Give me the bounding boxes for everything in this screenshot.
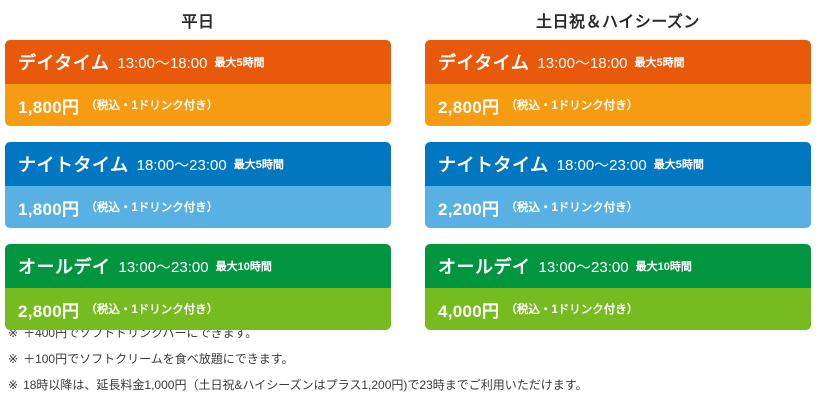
card-body: 2,800円 （税込・1ドリンク付き） — [425, 84, 811, 126]
card-body: 4,000円 （税込・1ドリンク付き） — [425, 288, 811, 330]
plan-time-range: 13:00〜23:00 — [539, 256, 629, 277]
plan-price-note: （税込・1ドリンク付き） — [505, 199, 638, 215]
footnote-text: ＋100円でソフトクリームを食べ放題にできます。 — [23, 352, 293, 366]
plan-price: 2,800円 — [438, 93, 499, 118]
footnote-item: ※＋100円でソフトクリームを食べ放題にできます。 — [8, 351, 808, 367]
card-header: デイタイム 13:00〜18:00 最大5時間 — [5, 40, 391, 84]
plan-name: デイタイム — [18, 49, 109, 75]
plan-card-nighttime-weekend[interactable]: ナイトタイム 18:00〜23:00 最大5時間 2,200円 （税込・1ドリン… — [425, 142, 811, 228]
plan-name: デイタイム — [438, 49, 529, 75]
plan-name: オールデイ — [18, 253, 111, 279]
plan-name: ナイトタイム — [18, 151, 129, 177]
plan-time-range: 18:00〜23:00 — [557, 154, 647, 175]
plan-name: ナイトタイム — [438, 151, 549, 177]
plan-price: 2,800円 — [18, 297, 79, 322]
card-header: オールデイ 13:00〜23:00 最大10時間 — [5, 244, 391, 288]
card-header: オールデイ 13:00〜23:00 最大10時間 — [425, 244, 811, 288]
plan-price: 1,800円 — [18, 93, 79, 118]
footnote-item: ※18時以降は、延長料金1,000円（土日祝&ハイシーズンはプラス1,200円)… — [8, 377, 808, 393]
footnote-mark: ※ — [8, 352, 18, 366]
plan-price: 2,200円 — [438, 195, 499, 220]
plan-price-note: （税込・1ドリンク付き） — [505, 301, 638, 317]
card-header: ナイトタイム 18:00〜23:00 最大5時間 — [5, 142, 391, 186]
plan-card-nighttime-weekday[interactable]: ナイトタイム 18:00〜23:00 最大5時間 1,800円 （税込・1ドリン… — [5, 142, 391, 228]
card-header: ナイトタイム 18:00〜23:00 最大5時間 — [425, 142, 811, 186]
plan-card-daytime-weekend[interactable]: デイタイム 13:00〜18:00 最大5時間 2,800円 （税込・1ドリンク… — [425, 40, 811, 126]
pricing-table: 平日 土日祝＆ハイシーズン — [0, 0, 817, 413]
plan-price: 1,800円 — [18, 195, 79, 220]
column-header-weekday: 平日 — [5, 8, 391, 32]
plan-card-allday-weekday[interactable]: オールデイ 13:00〜23:00 最大10時間 2,800円 （税込・1ドリン… — [5, 244, 391, 330]
plan-price: 4,000円 — [438, 297, 499, 322]
plan-price-note: （税込・1ドリンク付き） — [85, 301, 218, 317]
footnote-text: 18時以降は、延長料金1,000円（土日祝&ハイシーズンはプラス1,200円)で… — [23, 378, 587, 392]
plan-time-range: 13:00〜23:00 — [119, 256, 209, 277]
card-body: 2,200円 （税込・1ドリンク付き） — [425, 186, 811, 228]
plan-card-allday-weekend[interactable]: オールデイ 13:00〜23:00 最大10時間 4,000円 （税込・1ドリン… — [425, 244, 811, 330]
plan-max-duration: 最大10時間 — [216, 258, 272, 274]
plan-max-duration: 最大10時間 — [636, 258, 692, 274]
plan-time-range: 13:00〜18:00 — [117, 52, 207, 73]
plan-max-duration: 最大5時間 — [234, 156, 284, 172]
plan-price-note: （税込・1ドリンク付き） — [505, 97, 638, 113]
plan-card-grid: デイタイム 13:00〜18:00 最大5時間 1,800円 （税込・1ドリンク… — [0, 40, 817, 330]
plan-name: オールデイ — [438, 253, 531, 279]
plan-time-range: 13:00〜18:00 — [537, 52, 627, 73]
plan-price-note: （税込・1ドリンク付き） — [85, 97, 218, 113]
card-body: 1,800円 （税込・1ドリンク付き） — [5, 84, 391, 126]
plan-price-note: （税込・1ドリンク付き） — [85, 199, 218, 215]
card-body: 1,800円 （税込・1ドリンク付き） — [5, 186, 391, 228]
plan-max-duration: 最大5時間 — [654, 156, 704, 172]
footnote-mark: ※ — [8, 378, 18, 392]
column-header-weekend: 土日祝＆ハイシーズン — [425, 8, 811, 32]
plan-max-duration: 最大5時間 — [215, 54, 265, 70]
column-headers: 平日 土日祝＆ハイシーズン — [0, 0, 817, 40]
plan-max-duration: 最大5時間 — [635, 54, 685, 70]
card-body: 2,800円 （税込・1ドリンク付き） — [5, 288, 391, 330]
footnotes: ※＋400円でソフトドリンクバーにできます。 ※＋100円でソフトクリームを食べ… — [8, 325, 808, 404]
plan-card-daytime-weekday[interactable]: デイタイム 13:00〜18:00 最大5時間 1,800円 （税込・1ドリンク… — [5, 40, 391, 126]
card-header: デイタイム 13:00〜18:00 最大5時間 — [425, 40, 811, 84]
plan-time-range: 18:00〜23:00 — [137, 154, 227, 175]
